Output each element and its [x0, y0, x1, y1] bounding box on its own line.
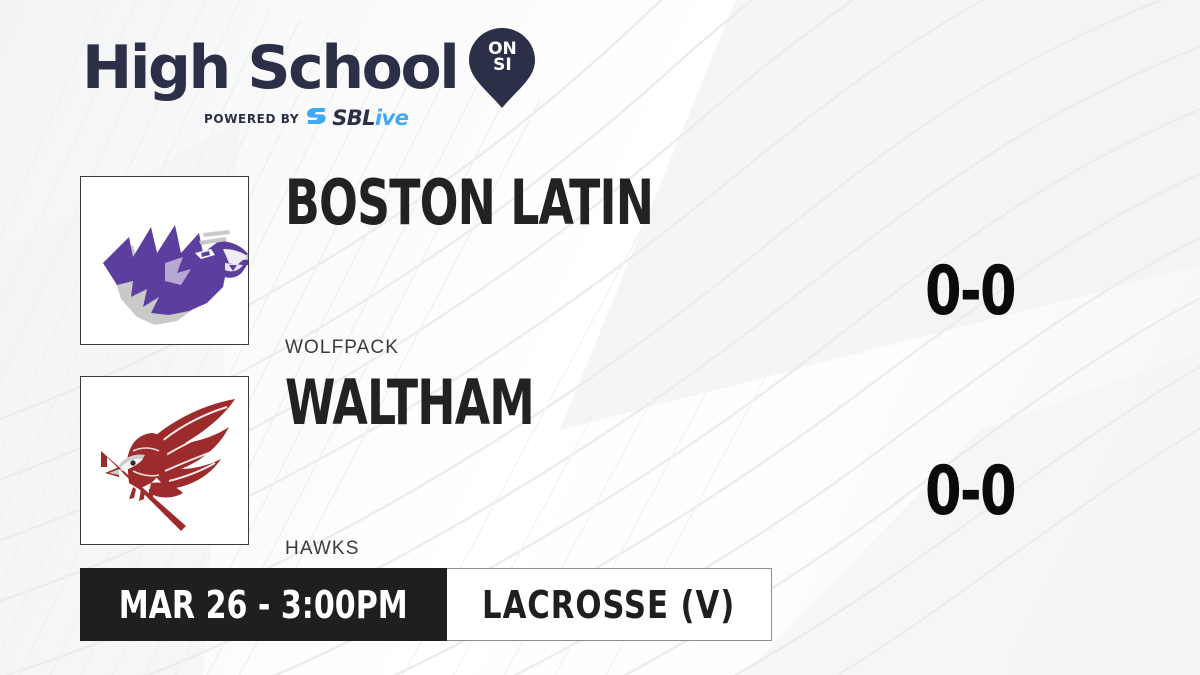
team-record-1: 0-0 — [884, 258, 1056, 326]
team-mascot-1: WOLFPACK — [285, 337, 399, 359]
brand-title-row: High School ON SI — [82, 34, 512, 102]
game-datetime-label: MAR 26 - 3:00PM — [119, 583, 408, 627]
team-logo-box-2 — [80, 376, 249, 545]
sblive-wordmark: SBLive — [332, 108, 408, 129]
on-si-pin-badge-icon: ON SI — [469, 28, 535, 108]
pin-badge-line-2: SI — [469, 57, 535, 73]
matchup-graphic: High School ON SI POWERED BY SBLive — [0, 0, 1200, 675]
team-logo-box-1 — [80, 176, 249, 345]
pin-badge-text: ON SI — [469, 41, 535, 73]
page-title: High School — [82, 39, 457, 97]
team-record-2: 0-0 — [884, 458, 1056, 526]
sblive-swoosh-icon — [307, 106, 326, 131]
game-sport-label: LACROSSE (V) — [482, 583, 735, 627]
wolf-head-logo-icon — [81, 177, 248, 344]
hawk-with-stick-logo-icon — [81, 377, 248, 544]
team-name-2: WALTHAM — [285, 372, 534, 434]
game-datetime-segment: MAR 26 - 3:00PM — [80, 568, 447, 641]
brand-header: High School ON SI POWERED BY SBLive — [82, 34, 512, 134]
game-info-bar: MAR 26 - 3:00PM LACROSSE (V) — [80, 568, 772, 641]
sblive-word-accent: ive — [375, 106, 408, 130]
powered-by-label: POWERED BY — [204, 112, 299, 126]
sblive-word-main: SBL — [332, 106, 375, 130]
team-mascot-2: HAWKS — [285, 538, 359, 560]
team-name-1: BOSTON LATIN — [285, 172, 653, 234]
game-sport-segment: LACROSSE (V) — [447, 568, 772, 641]
powered-by-row: POWERED BY SBLive — [204, 106, 512, 131]
